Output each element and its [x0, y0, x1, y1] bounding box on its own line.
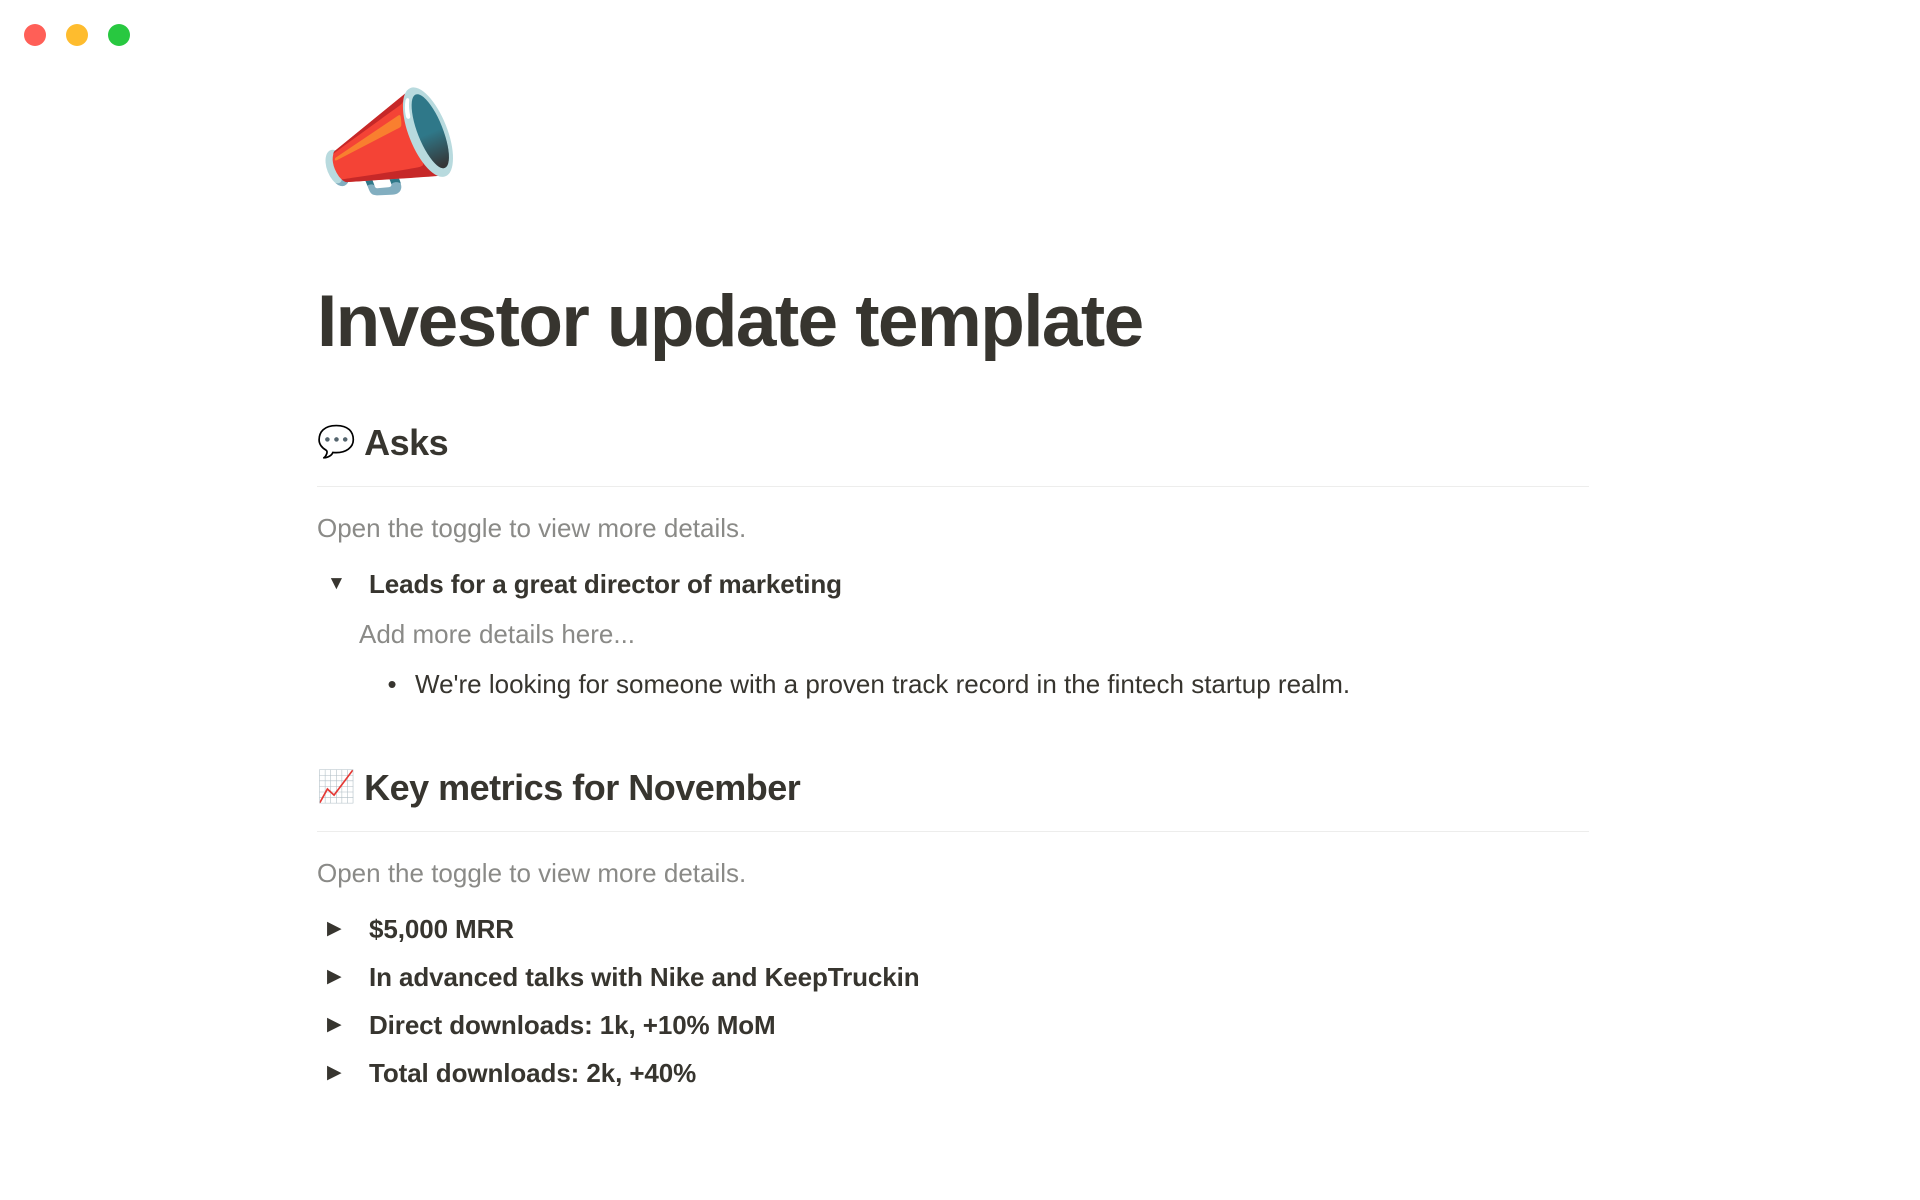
chevron-right-icon[interactable]: ▶	[327, 911, 353, 947]
minimize-window-button[interactable]	[66, 24, 88, 46]
list-item[interactable]: • We're looking for someone with a prove…	[385, 661, 1589, 707]
toggle-item[interactable]: ▼ Leads for a great director of marketin…	[327, 560, 1589, 608]
section-heading-label-key-metrics: Key metrics for November	[364, 765, 800, 810]
chevron-right-icon[interactable]: ▶	[327, 1007, 353, 1043]
chevron-down-icon[interactable]: ▼	[327, 566, 353, 602]
section-hint-asks: Open the toggle to view more details.	[317, 509, 1589, 548]
chevron-right-icon[interactable]: ▶	[327, 959, 353, 995]
toggle-item[interactable]: ▶ In advanced talks with Nike and KeepTr…	[327, 953, 1589, 1001]
close-window-button[interactable]	[24, 24, 46, 46]
toggle-list-key-metrics: ▶ $5,000 MRR ▶ In advanced talks with Ni…	[317, 905, 1589, 1097]
section-heading-key-metrics[interactable]: 📈 Key metrics for November	[317, 765, 1589, 810]
chart-increasing-icon: 📈	[317, 771, 355, 802]
section-key-metrics: 📈 Key metrics for November Open the togg…	[317, 765, 1589, 1097]
megaphone-emoji[interactable]: 📣	[317, 86, 1589, 226]
toggle-item[interactable]: ▶ Total downloads: 2k, +40%	[327, 1049, 1589, 1097]
section-heading-label-asks: Asks	[364, 420, 448, 465]
section-divider-asks	[317, 486, 1589, 487]
window-traffic-lights	[24, 24, 130, 46]
toggle-children: Add more details here... • We're looking…	[359, 608, 1589, 707]
section-divider-key-metrics	[317, 831, 1589, 832]
toggle-label: $5,000 MRR	[369, 911, 514, 947]
toggle-label: In advanced talks with Nike and KeepTruc…	[369, 959, 920, 995]
list-item-text: We're looking for someone with a proven …	[415, 666, 1350, 702]
toggle-child-hint[interactable]: Add more details here...	[359, 608, 1589, 661]
document-content-column: 📣 Investor update template 💬 Asks Open t…	[317, 0, 1589, 1097]
toggle-label: Total downloads: 2k, +40%	[369, 1055, 696, 1091]
bullet-icon: •	[385, 666, 399, 702]
section-hint-key-metrics: Open the toggle to view more details.	[317, 854, 1589, 893]
maximize-window-button[interactable]	[108, 24, 130, 46]
page-title[interactable]: Investor update template	[317, 226, 1589, 362]
toggle-label: Direct downloads: 1k, +10% MoM	[369, 1007, 776, 1043]
toggle-item[interactable]: ▶ $5,000 MRR	[327, 905, 1589, 953]
toggle-label: Leads for a great director of marketing	[369, 566, 842, 602]
section-heading-asks[interactable]: 💬 Asks	[317, 420, 1589, 465]
section-asks: 💬 Asks Open the toggle to view more deta…	[317, 420, 1589, 707]
toggle-list-asks: ▼ Leads for a great director of marketin…	[317, 560, 1589, 707]
toggle-item[interactable]: ▶ Direct downloads: 1k, +10% MoM	[327, 1001, 1589, 1049]
speech-balloon-icon: 💬	[317, 426, 355, 457]
chevron-right-icon[interactable]: ▶	[327, 1055, 353, 1091]
